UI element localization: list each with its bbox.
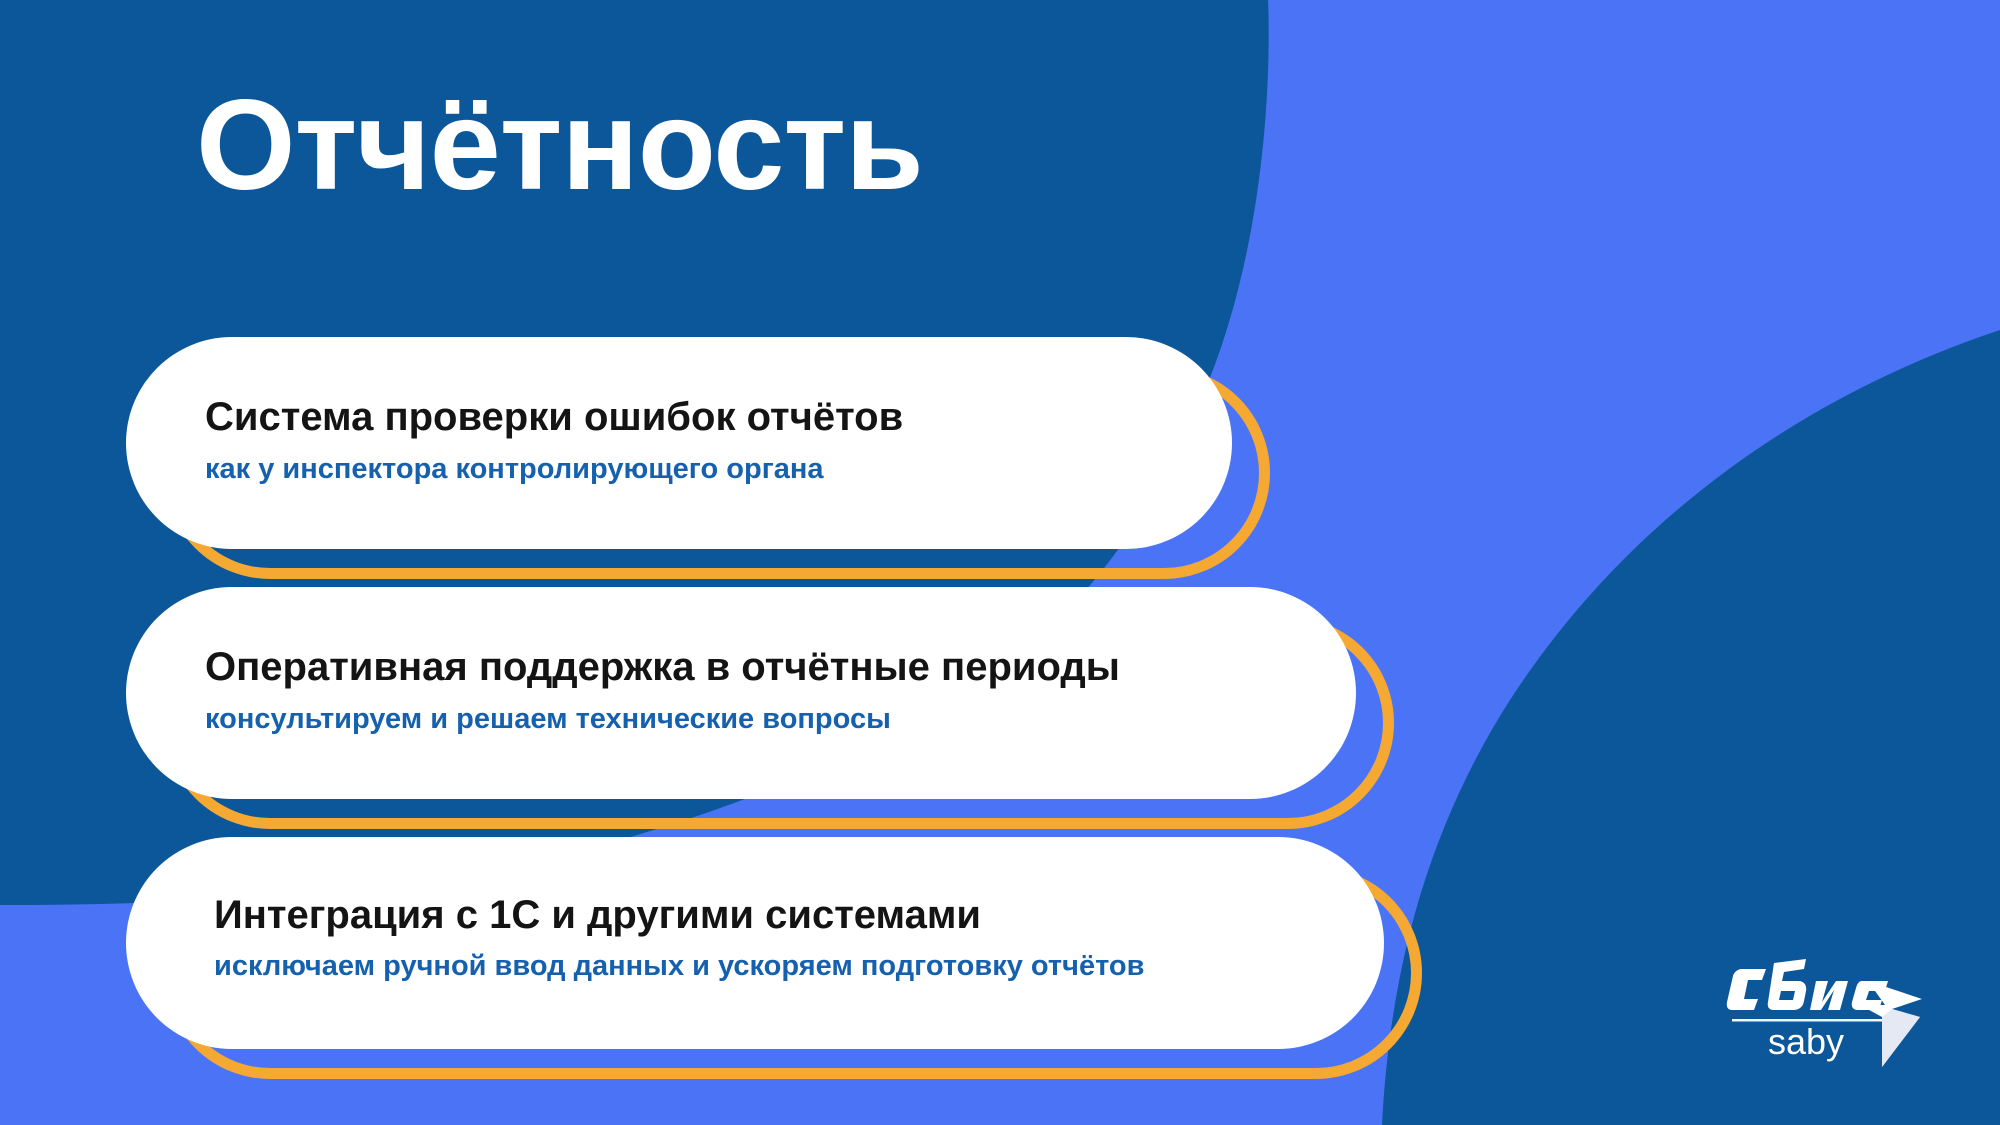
card-title: Оперативная поддержка в отчётные периоды xyxy=(205,647,1120,687)
logo-latin-text: saby xyxy=(1768,1021,1844,1062)
feature-card-list: Система проверки ошибок отчётов как у ин… xyxy=(0,0,2000,1125)
card-text-block: Интеграция с 1С и другими системами искл… xyxy=(126,837,1384,1049)
slide-canvas: Отчётность Система проверки ошибок отчёт… xyxy=(0,0,2000,1125)
feature-card[interactable]: Интеграция с 1С и другими системами искл… xyxy=(126,837,1384,1049)
saby-bird-icon xyxy=(1860,981,1922,1067)
card-subtitle: исключаем ручной ввод данных и ускоряем … xyxy=(214,952,1144,981)
card-title: Система проверки ошибок отчётов xyxy=(205,397,903,437)
saby-logo[interactable]: saby xyxy=(1722,955,1932,1075)
card-title: Интеграция с 1С и другими системами xyxy=(214,895,981,935)
card-text-block: Оперативная поддержка в отчётные периоды… xyxy=(126,587,1356,799)
feature-card[interactable]: Оперативная поддержка в отчётные периоды… xyxy=(126,587,1356,799)
sbis-wordmark xyxy=(1727,959,1888,1010)
card-text-block: Система проверки ошибок отчётов как у ин… xyxy=(126,337,1232,549)
card-subtitle: консультируем и решаем технические вопро… xyxy=(205,705,891,734)
card-subtitle: как у инспектора контролирующего органа xyxy=(205,455,824,484)
feature-card[interactable]: Система проверки ошибок отчётов как у ин… xyxy=(126,337,1232,549)
